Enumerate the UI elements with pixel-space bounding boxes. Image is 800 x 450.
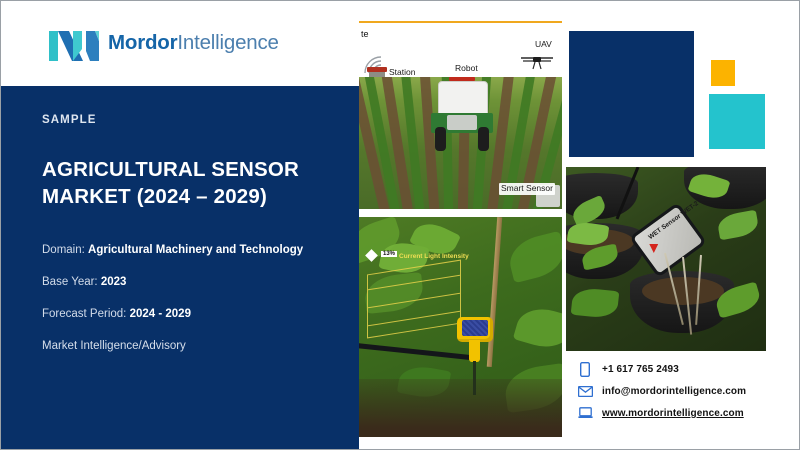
- report-cover-page: MordorIntelligence SAMPLE AGRICULTURAL S…: [0, 0, 800, 450]
- sample-badge: SAMPLE: [42, 114, 325, 126]
- contact-row-phone[interactable]: +1 617 765 2493: [577, 359, 792, 379]
- contact-row-website[interactable]: www.mordorintelligence.com: [577, 403, 792, 423]
- brand-name-bold: Mordor: [108, 31, 177, 54]
- cover-info-panel: SAMPLE AGRICULTURAL SENSOR MARKET (2024 …: [1, 86, 359, 450]
- brand-header: MordorIntelligence: [1, 1, 359, 86]
- label-uav: UAV: [535, 39, 552, 49]
- meta-label-domain: Domain:: [42, 244, 85, 256]
- yellow-solar-soil-sensor: [457, 317, 493, 355]
- envelope-icon: [577, 384, 593, 399]
- laptop-icon: [577, 406, 593, 421]
- decor-teal-block: [709, 94, 765, 149]
- image-wet-sensor-probe: WET Sensor WET-2: [566, 167, 766, 351]
- meta-row-forecast-period: Forecast Period: 2024 - 2029: [42, 308, 325, 322]
- contact-block: +1 617 765 2493 info@mordorintelligence.…: [577, 359, 792, 425]
- label-robot: Robot: [455, 63, 478, 73]
- label-station: Station: [389, 67, 415, 77]
- contact-row-email[interactable]: info@mordorintelligence.com: [577, 381, 792, 401]
- meta-label-forecast-period: Forecast Period:: [42, 308, 126, 320]
- page-title: AGRICULTURAL SENSOR MARKET (2024 – 2029): [42, 156, 325, 210]
- solar-panel-icon: [462, 320, 488, 336]
- brand-wordmark: MordorIntelligence: [108, 33, 279, 54]
- soil-area: [359, 379, 562, 437]
- image-garden-sensor: 13% Current Light Intensity: [359, 217, 562, 437]
- advisory-tagline: Market Intelligence/Advisory: [42, 340, 186, 352]
- meta-row-domain: Domain: Agricultural Machinery and Techn…: [42, 244, 325, 258]
- overlay-label: Current Light Intensity: [399, 253, 469, 260]
- decor-orange-block: [711, 60, 735, 86]
- meta-label-base-year: Base Year:: [42, 276, 98, 288]
- overlay-value-chip: 13%: [381, 251, 397, 257]
- meta-value-base-year: 2023: [101, 276, 127, 288]
- contact-website[interactable]: www.mordorintelligence.com: [602, 408, 744, 419]
- drip-irrigation-hose: [359, 343, 473, 361]
- contact-email: info@mordorintelligence.com: [602, 386, 746, 397]
- brand-name-light: Intelligence: [177, 31, 278, 54]
- mordor-m-logo-icon: [49, 27, 99, 61]
- device-brand-icon: [649, 244, 658, 253]
- contact-phone: +1 617 765 2493: [602, 364, 679, 375]
- device-label: WET Sensor WET-2: [647, 200, 700, 242]
- agri-robot-illustration: [429, 81, 495, 153]
- uav-drone-icon: [519, 51, 555, 71]
- accent-rule: [359, 21, 562, 23]
- meta-value-domain: Agricultural Machinery and Technology: [88, 244, 303, 256]
- meta-row-base-year: Base Year: 2023: [42, 276, 325, 290]
- middle-image-column: te Station Robot: [359, 15, 562, 437]
- phone-icon: [577, 362, 593, 377]
- label-smart-sensor: Smart Sensor: [499, 183, 555, 195]
- image-field-scene: te Station Robot: [359, 15, 562, 209]
- label-satellite: te: [361, 29, 369, 39]
- meta-value-forecast-period: 2024 - 2029: [130, 308, 191, 320]
- decor-navy-block: [569, 31, 694, 157]
- sensor-data-overlay: [367, 260, 461, 339]
